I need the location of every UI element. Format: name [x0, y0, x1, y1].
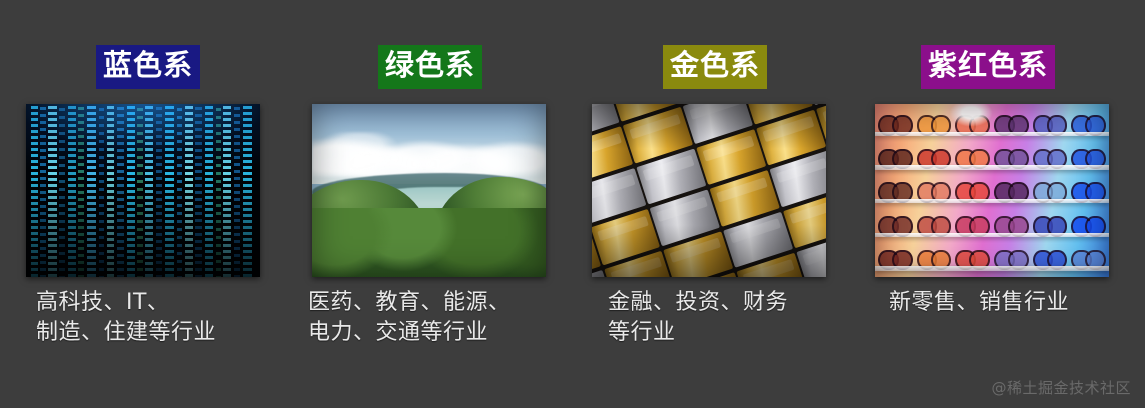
caption-gold: 金融、投资、财务 等行业: [608, 288, 858, 348]
image-digital-blue-matrix-rain: [26, 104, 260, 277]
badge-blue: 蓝色系: [96, 45, 200, 89]
vignette: [312, 104, 546, 277]
image-sunglasses-display-wall: [875, 104, 1109, 277]
image-green-forest-bay-landscape: [312, 104, 546, 277]
caption-blue: 高科技、IT、 制造、住建等行业: [36, 288, 286, 348]
caption-green: 医药、教育、能源、 电力、交通等行业: [308, 288, 572, 348]
column-blue: 蓝色系: [0, 0, 286, 408]
column-gold: 金色系: [572, 0, 858, 408]
watermark: @稀土掘金技术社区: [991, 377, 1131, 398]
badge-purple-red: 紫红色系: [921, 45, 1055, 89]
column-green: 绿色系 医药、教育、能源、 电力、交通等行业: [286, 0, 572, 408]
badge-gold: 金色系: [663, 45, 767, 89]
vignette: [875, 104, 1109, 277]
image-gold-and-silver-bullion-bars: [592, 104, 826, 277]
column-purple-red: 紫红色系: [858, 0, 1145, 408]
caption-purple-red: 新零售、销售行业: [889, 288, 1145, 318]
bullion-shading: [592, 104, 826, 277]
badge-green: 绿色系: [378, 45, 482, 89]
color-scheme-board: 蓝色系: [0, 0, 1145, 408]
